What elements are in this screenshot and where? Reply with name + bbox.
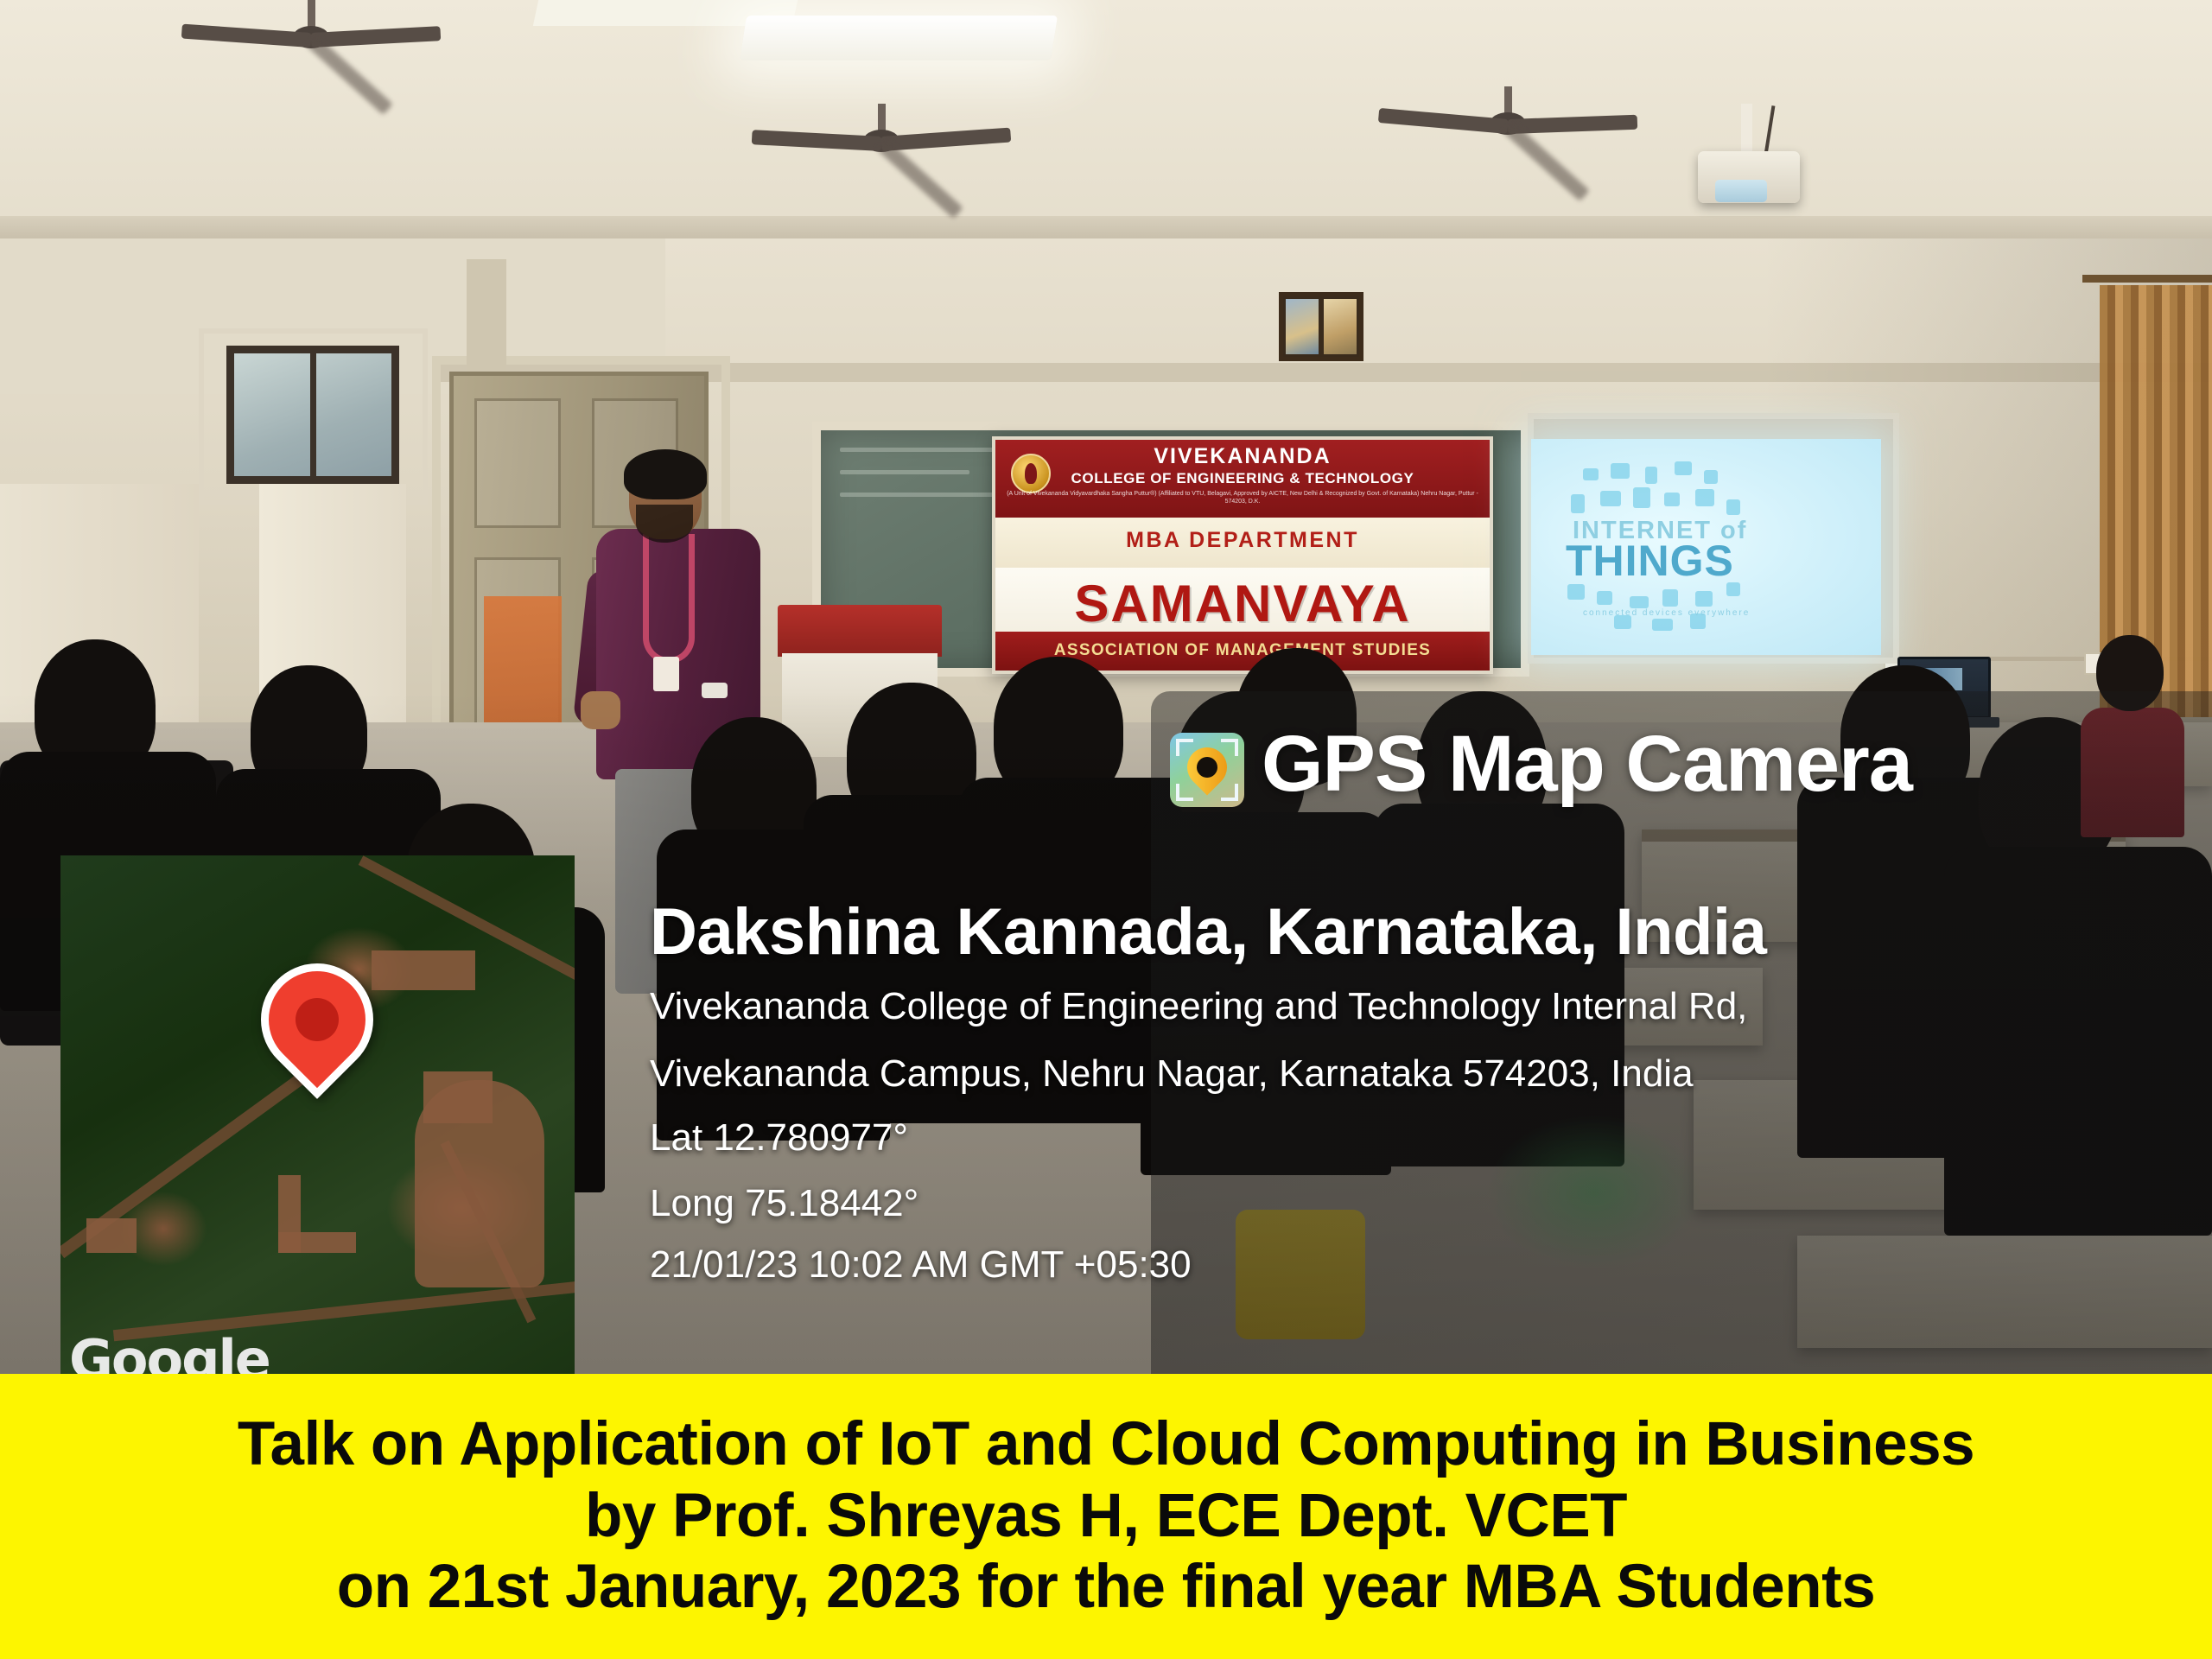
slide-title-large: THINGS: [1566, 536, 1734, 586]
gps-longitude: Long 75.18442°: [650, 1175, 2171, 1232]
projector-mount: [1741, 104, 1752, 156]
caption-line-3: on 21st January, 2023 for the final year…: [337, 1552, 1876, 1623]
banner-event-row: SAMANVAYA: [995, 568, 1490, 639]
banner-department-row: MBA DEPARTMENT: [995, 518, 1490, 568]
banner-college-name: VIVEKANANDA: [995, 444, 1490, 469]
screenshot-root: VIVEKANANDA COLLEGE OF ENGINEERING & TEC…: [0, 0, 2212, 1659]
framed-portrait: [1279, 292, 1363, 361]
college-logo-icon: [1011, 454, 1051, 493]
banner-association: ASSOCIATION OF MANAGEMENT STUDIES: [1054, 641, 1431, 660]
banner-event-name: SAMANVAYA: [1074, 574, 1410, 633]
gps-latitude: Lat 12.780977°: [650, 1109, 2171, 1166]
caption-line-2: by Prof. Shreyas H, ECE Dept. VCET: [585, 1481, 1627, 1552]
slide-caption: connected devices everywhere: [1583, 608, 1750, 618]
gps-place: Dakshina Kannada, Karnataka, India: [650, 899, 2171, 966]
curtain-rod: [2082, 275, 2212, 283]
gps-timestamp: 21/01/23 10:02 AM GMT +05:30: [650, 1243, 2171, 1288]
google-watermark: Google: [69, 1328, 270, 1374]
presenter-lanyard: [643, 534, 695, 664]
classroom-photo: VIVEKANANDA COLLEGE OF ENGINEERING & TEC…: [0, 0, 2212, 1374]
presenter-beard: [636, 505, 693, 543]
wall-window: [226, 346, 399, 484]
gps-address-line-1: Vivekananda College of Engineering and T…: [650, 980, 2171, 1033]
banner-department: MBA DEPARTMENT: [1126, 528, 1359, 553]
gps-app-title: GPS Map Camera: [1262, 724, 1912, 804]
tube-light: [740, 16, 1058, 60]
projector-lens: [1715, 180, 1767, 202]
projection-screen: INTERNET of THINGS connected devices eve…: [1531, 439, 1881, 655]
gps-map-thumbnail[interactable]: Google: [60, 855, 575, 1374]
gps-info-block: Dakshina Kannada, Karnataka, India Vivek…: [650, 899, 2171, 1288]
podium-top: [778, 605, 942, 657]
caption-banner: Talk on Application of IoT and Cloud Com…: [0, 1374, 2212, 1659]
caption-line-1: Talk on Application of IoT and Cloud Com…: [238, 1409, 1974, 1480]
ceiling-beam: [0, 216, 2212, 238]
banner-header: VIVEKANANDA COLLEGE OF ENGINEERING & TEC…: [995, 440, 1490, 518]
presenter-hair: [624, 449, 707, 499]
event-banner: VIVEKANANDA COLLEGE OF ENGINEERING & TEC…: [992, 436, 1493, 674]
banner-college-sub: COLLEGE OF ENGINEERING & TECHNOLOGY: [995, 470, 1490, 487]
banner-college-fine: (A Unit of Vivekananda Vidyavardhaka San…: [995, 490, 1490, 506]
presenter-id-badge: [653, 657, 679, 691]
gps-address-line-2: Vivekananda Campus, Nehru Nagar, Karnata…: [650, 1047, 2171, 1101]
gps-map-camera-icon: [1170, 733, 1244, 807]
door-transom: [467, 259, 506, 380]
